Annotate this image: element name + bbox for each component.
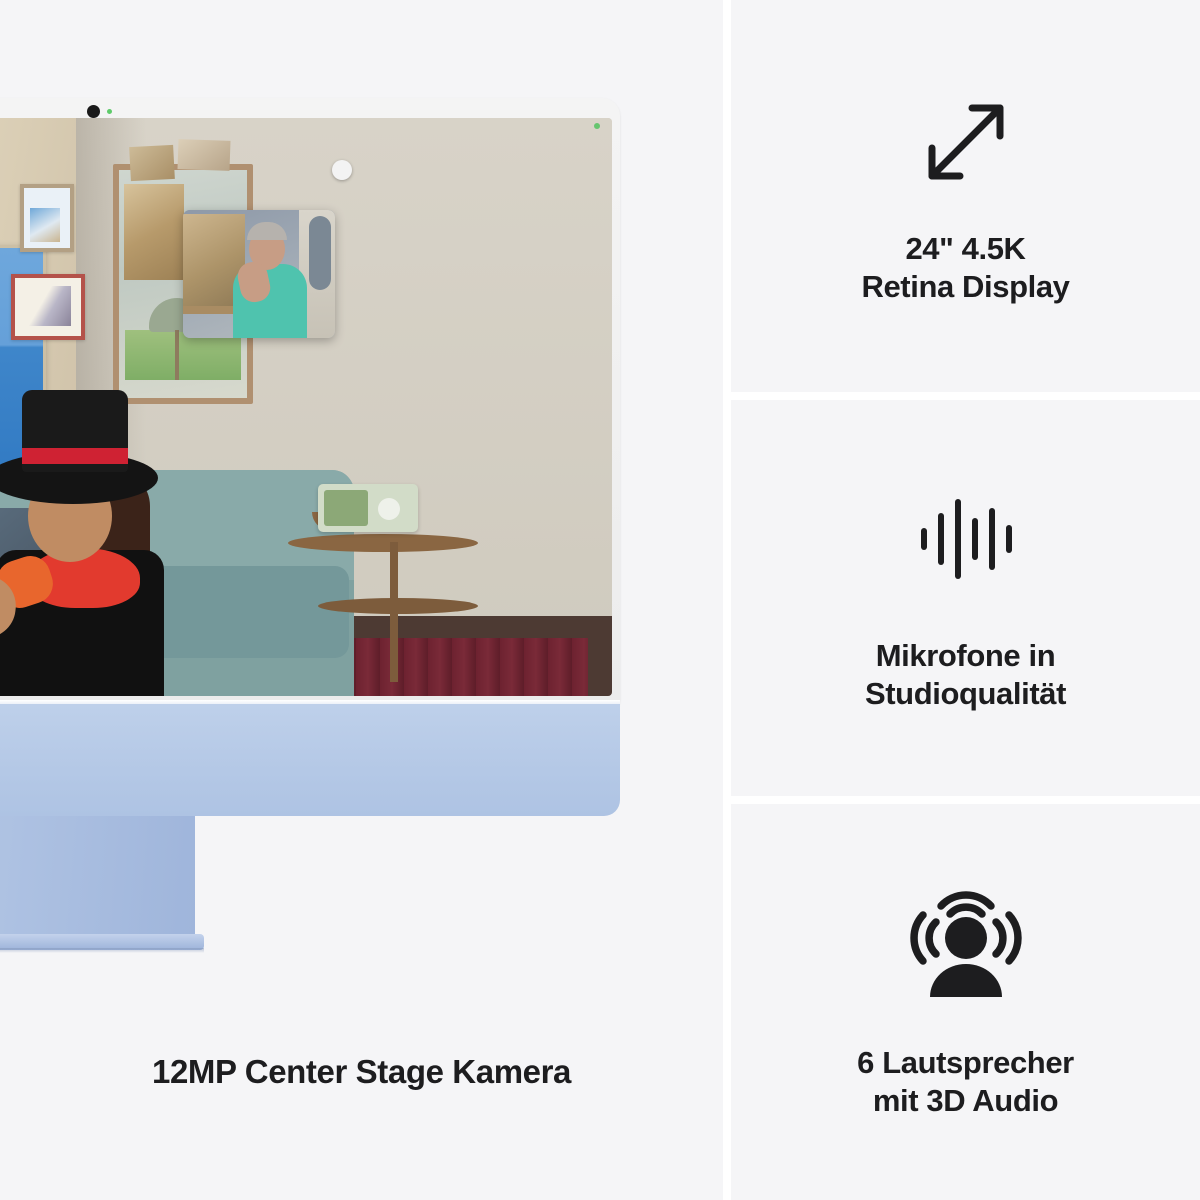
radio-grill — [324, 490, 368, 526]
side-table-lower — [318, 598, 478, 614]
wall-art-framed — [20, 184, 74, 252]
mic-label-line2: Studioqualität — [865, 675, 1066, 713]
pinned-paper — [177, 139, 230, 171]
pinned-map — [124, 184, 184, 280]
speakers-label-line1: 6 Lautsprecher — [857, 1044, 1074, 1082]
hero-caption: 12MP Center Stage Kamera — [0, 1052, 723, 1092]
wall-art-framed-red — [11, 274, 85, 340]
facetime-pip-window[interactable] — [183, 210, 335, 338]
feature-panel-speakers-label: 6 Lautsprecher mit 3D Audio — [831, 1044, 1100, 1121]
radio-knob — [378, 498, 400, 520]
speakers-label-line2: mit 3D Audio — [857, 1082, 1074, 1120]
close-icon[interactable] — [332, 160, 352, 180]
feature-panel-display: 24" 4.5K Retina Display — [731, 0, 1200, 392]
screen-indicator-light-icon — [594, 123, 600, 129]
feature-panel-microphones: Mikrofone in Studioqualität — [731, 400, 1200, 796]
pinned-paper — [129, 145, 175, 181]
imac-screen — [0, 118, 612, 696]
spatial-audio-person-icon — [906, 884, 1026, 1004]
audio-waveform-icon — [910, 483, 1022, 595]
display-label-line1: 24" 4.5K — [861, 230, 1069, 268]
imac-device — [0, 98, 620, 716]
display-label-line2: Retina Display — [861, 268, 1069, 306]
feature-panel-display-label: 24" 4.5K Retina Display — [835, 230, 1095, 307]
imac-body — [0, 98, 620, 716]
side-table — [288, 534, 478, 552]
product-feature-grid: 12MP Center Stage Kamera 24" 4.5K Retina… — [0, 0, 1200, 1200]
mic-label-line1: Mikrofone in — [865, 637, 1066, 675]
imac-chin — [0, 704, 620, 816]
imac-stand-shadow — [0, 948, 204, 953]
camera-icon — [87, 105, 100, 118]
feature-panel-microphones-label: Mikrofone in Studioqualität — [839, 637, 1092, 714]
feature-panel-speakers: 6 Lautsprecher mit 3D Audio — [731, 804, 1200, 1200]
diagonal-resize-arrows-icon — [910, 86, 1022, 198]
hero-imac-tile: 12MP Center Stage Kamera — [0, 0, 723, 1200]
imac-stand-neck — [0, 816, 195, 944]
camera-indicator-light-icon — [107, 109, 112, 114]
top-hat-band — [22, 448, 128, 464]
